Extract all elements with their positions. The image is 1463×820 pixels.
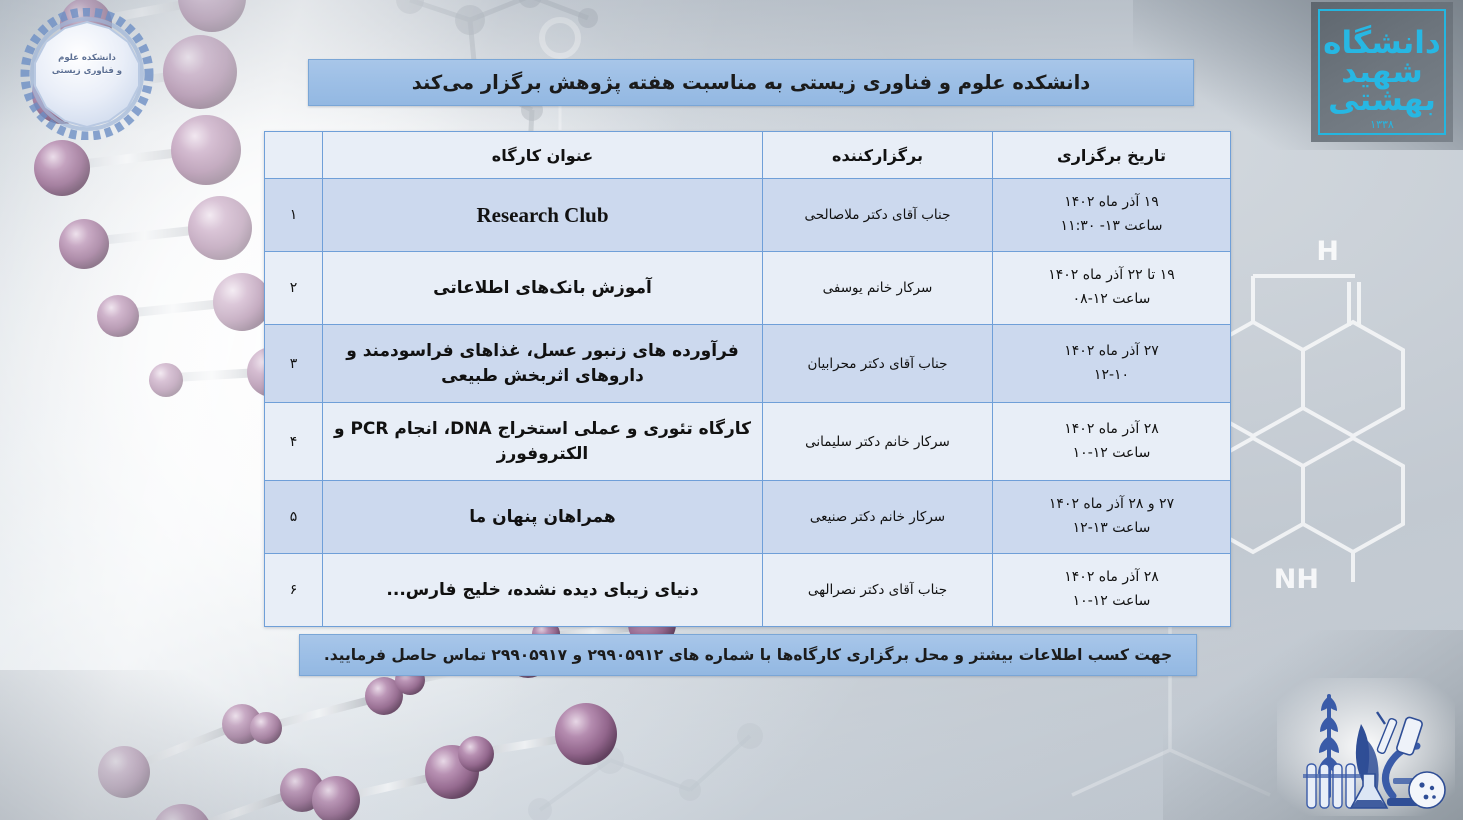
poster-title-text: دانشکده علوم و فناوری زیستی به مناسبت هف… xyxy=(412,71,1091,94)
contact-info-text: جهت کسب اطلاعات بیشتر و محل برگزاری کارگ… xyxy=(324,646,1172,664)
date-line-2: ساعت ۱۳-۱۲ xyxy=(999,517,1224,541)
table-row: ۲۷ و ۲۸ آذر ماه ۱۴۰۲ ساعت ۱۳-۱۲ سرکار خا… xyxy=(265,481,1231,554)
cell-date: ۱۹ آذر ماه ۱۴۰۲ ساعت ۱۳- ۱۱:۳۰ xyxy=(993,179,1231,252)
column-header-title: عنوان کارگاه xyxy=(323,132,763,179)
cell-date: ۲۸ آذر ماه ۱۴۰۲ ساعت ۱۲-۱۰ xyxy=(993,554,1231,627)
contact-info-banner: جهت کسب اطلاعات بیشتر و محل برگزاری کارگ… xyxy=(299,634,1197,676)
column-header-num xyxy=(265,132,323,179)
date-line-1: ۲۸ آذر ماه ۱۴۰۲ xyxy=(1064,569,1158,585)
table-row: ۲۸ آذر ماه ۱۴۰۲ ساعت ۱۲-۱۰ سرکار خانم دک… xyxy=(265,403,1231,481)
cell-host: سرکار خانم دکتر صنیعی xyxy=(763,481,993,554)
cell-title: آموزش بانک‌های اطلاعاتی xyxy=(323,252,763,325)
table-row: ۲۸ آذر ماه ۱۴۰۲ ساعت ۱۲-۱۰ جناب آقای دکت… xyxy=(265,554,1231,627)
cell-date: ۱۹ تا ۲۲ آذر ماه ۱۴۰۲ ساعت ۱۲-۰۸ xyxy=(993,252,1231,325)
table-body: ۱۹ آذر ماه ۱۴۰۲ ساعت ۱۳- ۱۱:۳۰ جناب آقای… xyxy=(265,179,1231,627)
cell-date: ۲۷ و ۲۸ آذر ماه ۱۴۰۲ ساعت ۱۳-۱۲ xyxy=(993,481,1231,554)
corner-shade-bottom-left xyxy=(0,670,360,820)
university-logo-year: ۱۳۳۸ xyxy=(1311,118,1453,131)
cell-row-number: ۲ xyxy=(265,252,323,325)
cell-title: فرآورده های زنبور عسل، غذاهای فراسودمند … xyxy=(323,325,763,403)
lab-science-illustration xyxy=(1277,678,1455,816)
date-line-1: ۱۹ آذر ماه ۱۴۰۲ xyxy=(1064,194,1158,210)
date-line-2: ساعت ۱۲-۰۸ xyxy=(999,288,1224,312)
date-line-1: ۲۷ و ۲۸ آذر ماه ۱۴۰۲ xyxy=(1049,496,1174,512)
university-logo: دانشگاه شهید بهشتی ۱۳۳۸ xyxy=(1311,2,1453,142)
date-line-1: ۱۹ تا ۲۲ آذر ماه ۱۴۰۲ xyxy=(1048,267,1175,283)
poster-canvas: CH 3 H NH xyxy=(0,0,1463,820)
date-line-1: ۲۷ آذر ماه ۱۴۰۲ xyxy=(1064,343,1158,359)
cell-date: ۲۸ آذر ماه ۱۴۰۲ ساعت ۱۲-۱۰ xyxy=(993,403,1231,481)
cell-host: جناب آقای دکتر محرابیان xyxy=(763,325,993,403)
cell-row-number: ۴ xyxy=(265,403,323,481)
cell-host: سرکار خانم دکتر سلیمانی xyxy=(763,403,993,481)
cell-title: Research Club xyxy=(323,179,763,252)
table-header: تاریخ برگزاری برگزارکننده عنوان کارگاه xyxy=(265,132,1231,179)
table-row: ۲۷ آذر ماه ۱۴۰۲ ۱۲-۱۰ جناب آقای دکتر محر… xyxy=(265,325,1231,403)
cell-row-number: ۶ xyxy=(265,554,323,627)
faculty-seal: دانشکده علوم و فناوری زیستی xyxy=(12,8,162,140)
cell-host: جناب آقای دکتر ملاصالحی xyxy=(763,179,993,252)
cell-row-number: ۳ xyxy=(265,325,323,403)
cell-title: کارگاه تئوری و عملی استخراج DNA، انجام P… xyxy=(323,403,763,481)
cell-date: ۲۷ آذر ماه ۱۴۰۲ ۱۲-۱۰ xyxy=(993,325,1231,403)
table-header-row: تاریخ برگزاری برگزارکننده عنوان کارگاه xyxy=(265,132,1231,179)
date-line-2: ساعت ۱۲-۱۰ xyxy=(999,442,1224,466)
seal-text: دانشکده علوم و فناوری زیستی xyxy=(12,52,162,78)
petri-dish-icon xyxy=(1409,772,1445,808)
seal-line-1: دانشکده علوم xyxy=(12,52,162,65)
cell-host: سرکار خانم یوسفی xyxy=(763,252,993,325)
column-header-host: برگزارکننده xyxy=(763,132,993,179)
date-line-2: ساعت ۱۳- ۱۱:۳۰ xyxy=(999,215,1224,239)
cell-row-number: ۱ xyxy=(265,179,323,252)
cell-host: جناب آقای دکتر نصرالهی xyxy=(763,554,993,627)
cell-row-number: ۵ xyxy=(265,481,323,554)
seal-line-2: و فناوری زیستی xyxy=(12,65,162,78)
cell-title: همراهان پنهان ما xyxy=(323,481,763,554)
column-header-date: تاریخ برگزاری xyxy=(993,132,1231,179)
cell-title: دنیای زیبای دیده نشده، خلیج فارس... xyxy=(323,554,763,627)
date-line-2: ساعت ۱۲-۱۰ xyxy=(999,590,1224,614)
university-logo-line-3: بهشتی xyxy=(1323,86,1441,115)
date-line-2: ۱۲-۱۰ xyxy=(999,364,1224,388)
table-row: ۱۹ تا ۲۲ آذر ماه ۱۴۰۲ ساعت ۱۲-۰۸ سرکار خ… xyxy=(265,252,1231,325)
workshop-schedule-table-wrapper: تاریخ برگزاری برگزارکننده عنوان کارگاه ۱… xyxy=(265,131,1231,627)
workshop-schedule-table: تاریخ برگزاری برگزارکننده عنوان کارگاه ۱… xyxy=(264,131,1231,627)
date-line-1: ۲۸ آذر ماه ۱۴۰۲ xyxy=(1064,421,1158,437)
poster-title-banner: دانشکده علوم و فناوری زیستی به مناسبت هف… xyxy=(308,59,1194,106)
table-row: ۱۹ آذر ماه ۱۴۰۲ ساعت ۱۳- ۱۱:۳۰ جناب آقای… xyxy=(265,179,1231,252)
